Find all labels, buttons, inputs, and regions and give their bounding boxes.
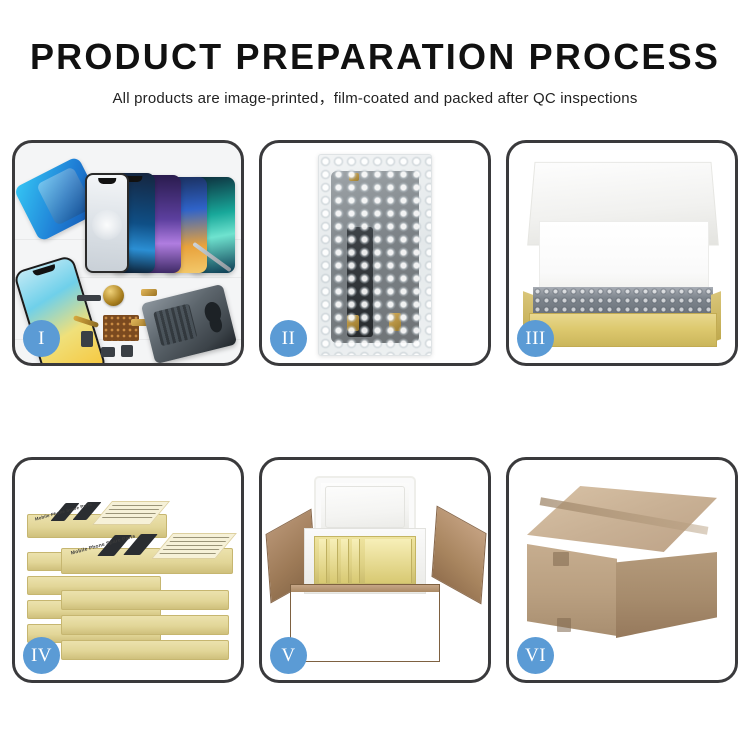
vibration-motor-icon <box>103 285 124 306</box>
bubble-texture <box>533 287 713 315</box>
step-panel-4[interactable]: Mobile Phone Spare Parts Mobile Phone Sp… <box>12 457 244 683</box>
step-panel-2[interactable]: II <box>259 140 491 366</box>
small-part-icon <box>101 347 115 357</box>
step-badge-5: V <box>270 637 307 674</box>
carton-right-face-icon <box>616 552 717 638</box>
bubble-texture <box>319 155 431 355</box>
step-badge-3: III <box>517 320 554 357</box>
bubble-wrap-bag-icon <box>318 154 432 356</box>
carton-left-face-icon <box>527 544 617 636</box>
foam-sheet-icon <box>539 221 709 295</box>
carton-tape-tab-2-icon <box>557 618 571 632</box>
camera-module-icon <box>81 331 93 347</box>
page-subtitle: All products are image-printed，film-coat… <box>0 87 750 108</box>
step-panel-5[interactable]: V <box>259 457 491 683</box>
retail-box <box>61 640 229 660</box>
gold-flex-icon <box>141 289 157 296</box>
product-preparation-infographic: PRODUCT PREPARATION PROCESS All products… <box>0 0 750 750</box>
header: PRODUCT PREPARATION PROCESS All products… <box>0 0 750 108</box>
step-badge-4: IV <box>23 637 60 674</box>
box-spec-panel <box>92 501 170 525</box>
step-panel-6[interactable]: VI <box>506 457 738 683</box>
carton-body-icon <box>290 584 440 662</box>
step-badge-1: I <box>23 320 60 357</box>
process-steps-grid: I II <box>12 140 738 686</box>
carton-rim <box>291 585 439 592</box>
step-panel-3[interactable]: III <box>506 140 738 366</box>
step-badge-2: II <box>270 320 307 357</box>
bubble-wrap-layer-icon <box>533 287 713 315</box>
step-panel-1[interactable]: I <box>12 140 244 366</box>
retail-box-printed-front: Mobile Phone Spare Parts <box>61 548 233 574</box>
connector-chip-icon <box>77 295 101 301</box>
phone-glass-panel-icon <box>85 173 129 273</box>
step-badge-6: VI <box>517 637 554 674</box>
yellow-boxes-group <box>314 536 416 586</box>
retail-box <box>61 615 229 635</box>
retail-box-stack: Mobile Phone Spare Parts Mobile Phone Sp… <box>25 478 237 670</box>
retail-box <box>61 590 229 610</box>
speaker-icon <box>121 345 133 357</box>
mailer-front-panel-icon <box>529 313 717 347</box>
page-title: PRODUCT PREPARATION PROCESS <box>0 38 750 76</box>
carton-tape-tab-icon <box>553 552 569 566</box>
